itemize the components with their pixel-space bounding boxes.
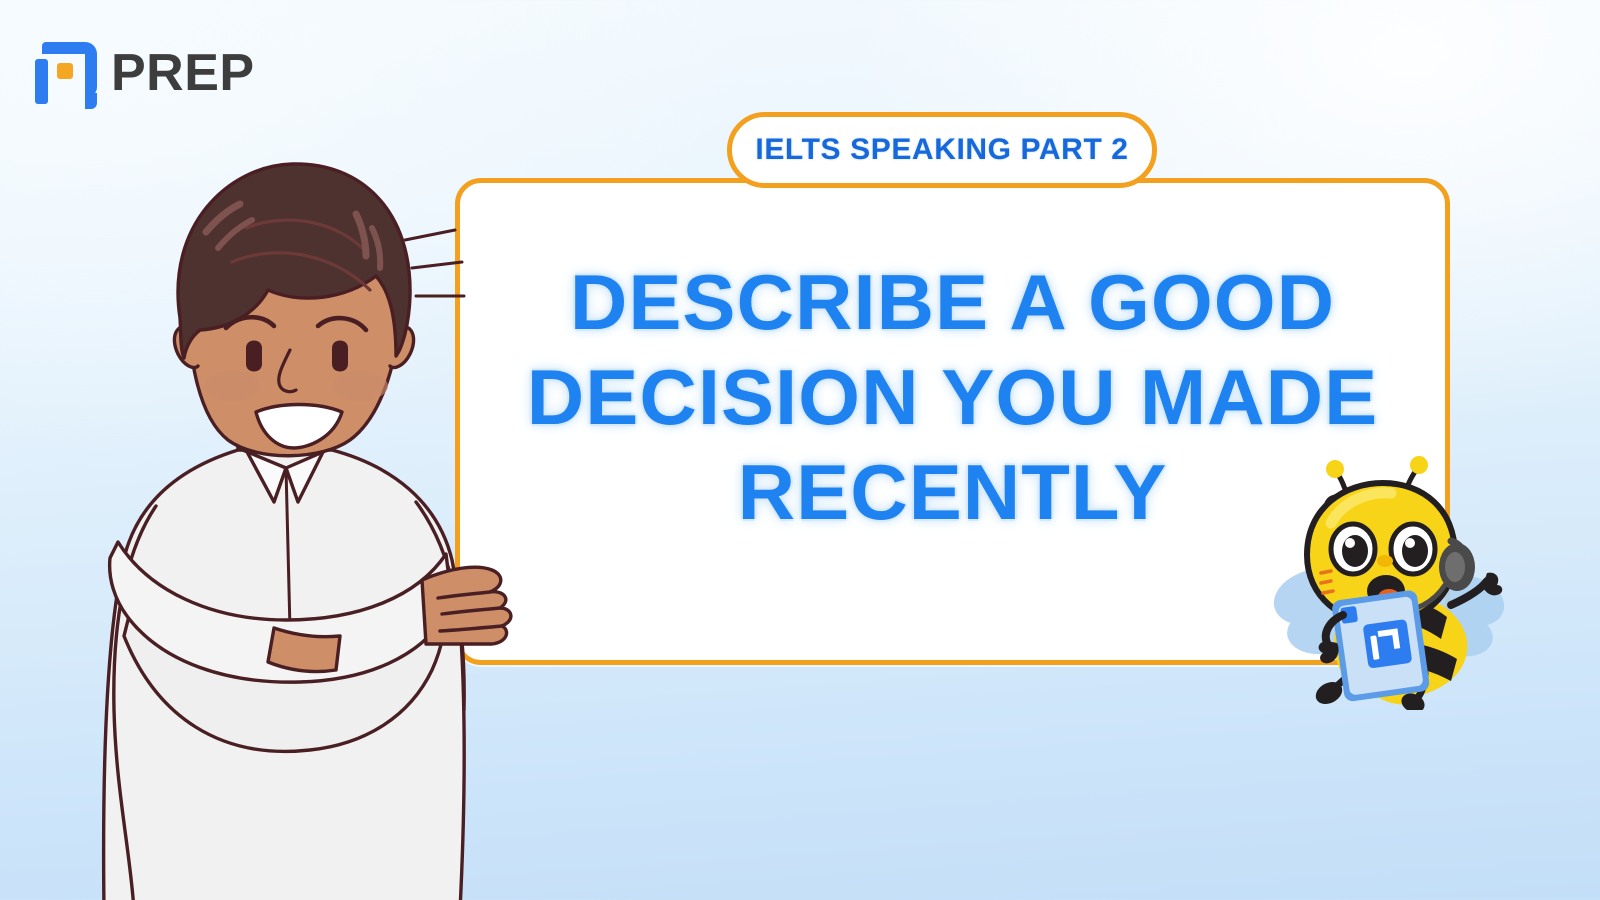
section-badge-label: IELTS SPEAKING PART 2 [755, 133, 1128, 167]
section-badge: IELTS SPEAKING PART 2 [727, 112, 1157, 188]
prep-logo-mark-icon [35, 42, 97, 104]
prep-logo-wordmark: PREP [111, 43, 255, 103]
student-illustration [60, 150, 620, 900]
prep-logo[interactable]: PREP [35, 42, 255, 104]
prep-bee-mascot-icon [1265, 445, 1515, 710]
